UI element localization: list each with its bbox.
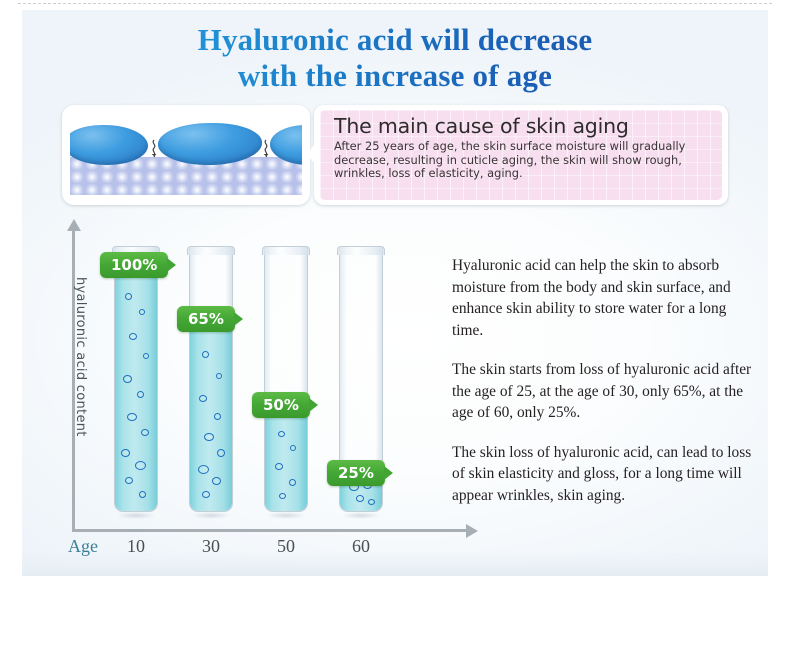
title-line-2: with the increase of age (0, 58, 790, 94)
test-tube-age-10 (114, 246, 158, 512)
info-box-inner: The main cause of skin aging After 25 ye… (320, 110, 722, 200)
skin-illustration (70, 113, 302, 197)
skin-illustration-card (62, 105, 310, 205)
description-text: Hyaluronic acid can help the skin to abs… (452, 255, 752, 524)
x-tick-label: 10 (106, 536, 166, 557)
title-line-1: Hyaluronic acid will decrease (198, 22, 593, 57)
tube-glass (264, 246, 308, 512)
description-paragraph-2: The skin starts from loss of hyaluronic … (452, 359, 752, 424)
tube-shadow (117, 512, 155, 519)
description-paragraph-3: The skin loss of hyaluronic acid, can le… (452, 442, 752, 507)
top-card: The main cause of skin aging After 25 ye… (62, 105, 728, 205)
tube-rim (337, 246, 385, 255)
x-axis-ticks: 10 30 50 60 (62, 536, 472, 560)
infographic-canvas: Hyaluronic acid will decrease with the i… (0, 0, 790, 646)
info-box-heading: The main cause of skin aging (334, 114, 712, 139)
x-axis (72, 529, 467, 532)
test-tube-age-50 (264, 246, 308, 512)
page-title: Hyaluronic acid will decrease with the i… (0, 22, 790, 94)
tube-rim (262, 246, 310, 255)
value-callout-25: 25% (327, 460, 385, 486)
description-paragraph-1: Hyaluronic acid can help the skin to abs… (452, 255, 752, 341)
info-box-body: After 25 years of age, the skin surface … (334, 140, 712, 181)
x-tick-label: 30 (181, 536, 241, 557)
info-body-line: wrinkles, loss of elasticity, aging. (334, 167, 712, 181)
moisture-arrow-icon (150, 139, 159, 161)
callout-notch (306, 141, 318, 167)
tube-liquid (115, 263, 157, 511)
tube-shadow (342, 512, 380, 519)
value-callout-65: 65% (177, 306, 235, 332)
test-tube-group (114, 246, 464, 514)
top-divider (18, 3, 772, 4)
y-axis-label: hyaluronic acid content (73, 277, 88, 467)
tube-glass (114, 246, 158, 512)
tube-shadow (192, 512, 230, 519)
x-tick-label: 50 (256, 536, 316, 557)
test-tube-age-30 (189, 246, 233, 512)
hyaluronic-acid-chart: hyaluronic acid content (62, 222, 472, 552)
value-callout-50: 50% (252, 392, 310, 418)
x-tick-label: 60 (331, 536, 391, 557)
tube-rim (187, 246, 235, 255)
value-callout-100: 100% (100, 252, 168, 278)
tube-liquid (190, 315, 232, 511)
water-droplet-icon (70, 125, 148, 165)
info-body-line: decrease, resulting in cuticle aging, th… (334, 154, 712, 168)
info-body-line: After 25 years of age, the skin surface … (334, 140, 712, 154)
tube-shadow (267, 512, 305, 519)
tube-glass (189, 246, 233, 512)
moisture-arrow-icon (262, 139, 271, 161)
info-box: The main cause of skin aging After 25 ye… (314, 105, 728, 205)
